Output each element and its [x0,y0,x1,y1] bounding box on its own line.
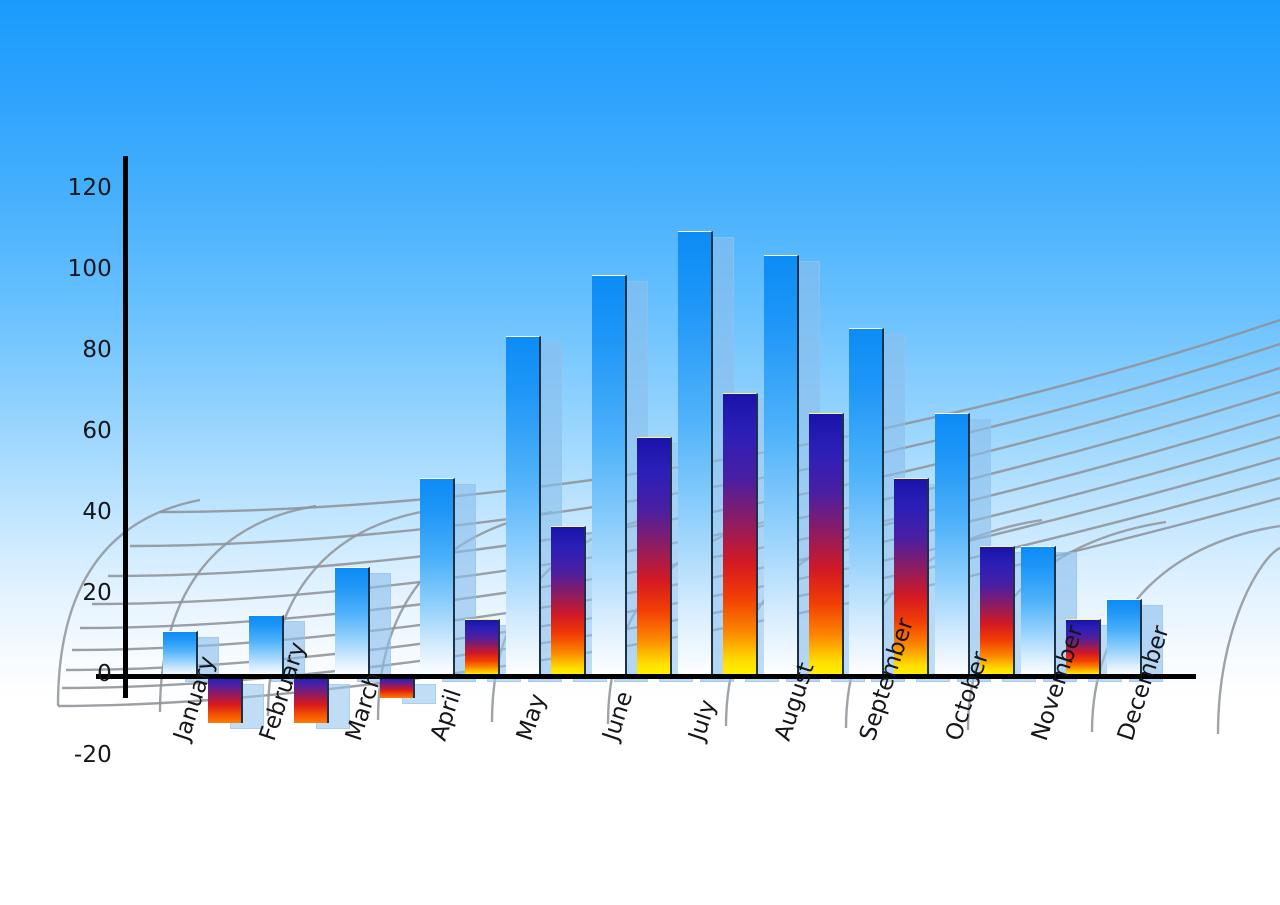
zero-tick-mark [112,674,140,679]
x-axis-label-july: July [684,697,722,744]
x-axis-label-june: June [598,688,638,744]
y-axis-tick--20: -20 [52,742,112,768]
chart-canvas: JanuaryFebruaryMarchAprilMayJuneJulyAugu… [0,0,1280,905]
y-axis-tick-120: 120 [52,175,112,201]
x-axis-label-january: January [169,653,221,744]
x-axis-label-december: December [1113,623,1175,744]
y-axis-tick-20: 20 [52,580,112,606]
x-axis-label-november: November [1027,622,1089,744]
x-axis-label-april: April [426,686,467,744]
y-axis-tick-60: 60 [52,418,112,444]
x-axis-label-may: May [512,691,551,744]
x-axis-label-august: August [770,659,820,744]
x-axis-label-february: February [255,639,311,744]
y-axis-tick-0: 0 [52,661,112,687]
x-axis-label-march: March [341,669,387,744]
x-axis-label-september: September [855,615,919,744]
y-axis-tick-100: 100 [52,256,112,282]
y-axis-tick-40: 40 [52,499,112,525]
labels-layer: JanuaryFebruaryMarchAprilMayJuneJulyAugu… [0,0,1280,905]
x-axis-label-october: October [941,648,994,744]
y-axis-tick-80: 80 [52,337,112,363]
